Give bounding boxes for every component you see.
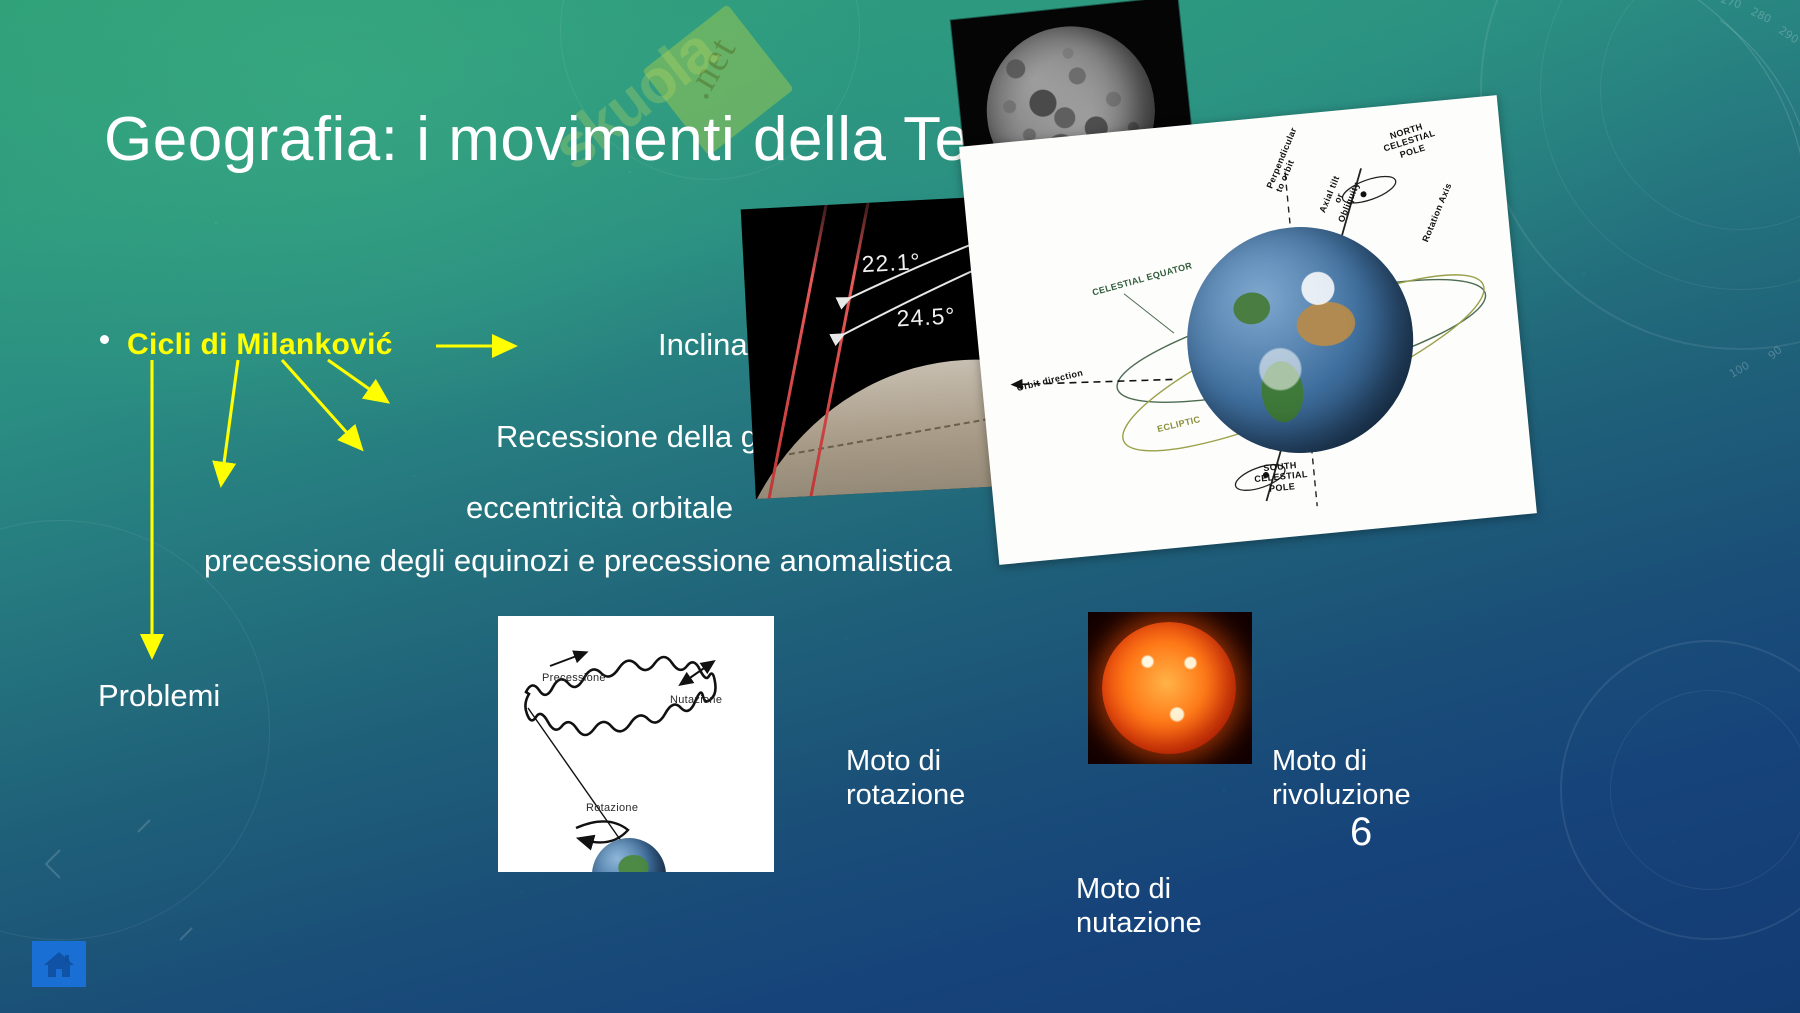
slide-number: 6 xyxy=(1350,810,1372,855)
label-south-celestial-pole: SOUTH CELESTIAL POLE xyxy=(1253,459,1309,495)
label-rotazione: Rotazione xyxy=(586,802,638,814)
precession-diagram-lines xyxy=(498,616,774,872)
presentation-slide: 270 280 290 300 90 100 .net skuola Geogr… xyxy=(0,0,1800,1013)
celestial-sphere-diagram: CELESTIAL EQUATOR Orbit direction ECLIPT… xyxy=(959,95,1537,565)
home-icon xyxy=(41,948,77,980)
bullet-item-milankovic: Cicli di Milanković xyxy=(100,328,393,362)
label-nutazione: Nutazione xyxy=(670,694,722,706)
obliquity-angle-min: 22.1° xyxy=(861,248,921,278)
caption-moto-nutazione: Moto di nutazione xyxy=(1076,872,1202,940)
label-recessione-galassia: Recessione della gal xyxy=(496,419,782,455)
label-problemi: Problemi xyxy=(98,678,220,714)
label-eccentricita-orbitale: eccentricità orbitale xyxy=(466,490,733,526)
label-precessione: Precessione xyxy=(542,672,606,684)
sun-photo xyxy=(1088,612,1252,764)
bullet-dot-icon xyxy=(100,335,109,344)
obliquity-angle-max: 24.5° xyxy=(896,302,956,332)
bullet-label-milankovic: Cicli di Milanković xyxy=(127,328,393,362)
caption-moto-rotazione: Moto di rotazione xyxy=(846,744,965,812)
home-button[interactable] xyxy=(32,941,86,987)
sun-disc xyxy=(1102,622,1236,754)
caption-moto-rivoluzione: Moto di rivoluzione xyxy=(1272,744,1411,812)
precession-nutation-diagram: Precessione Nutazione Rotazione xyxy=(498,616,774,872)
label-precessione-equinozi: precessione degli equinozi e precessione… xyxy=(204,543,952,579)
